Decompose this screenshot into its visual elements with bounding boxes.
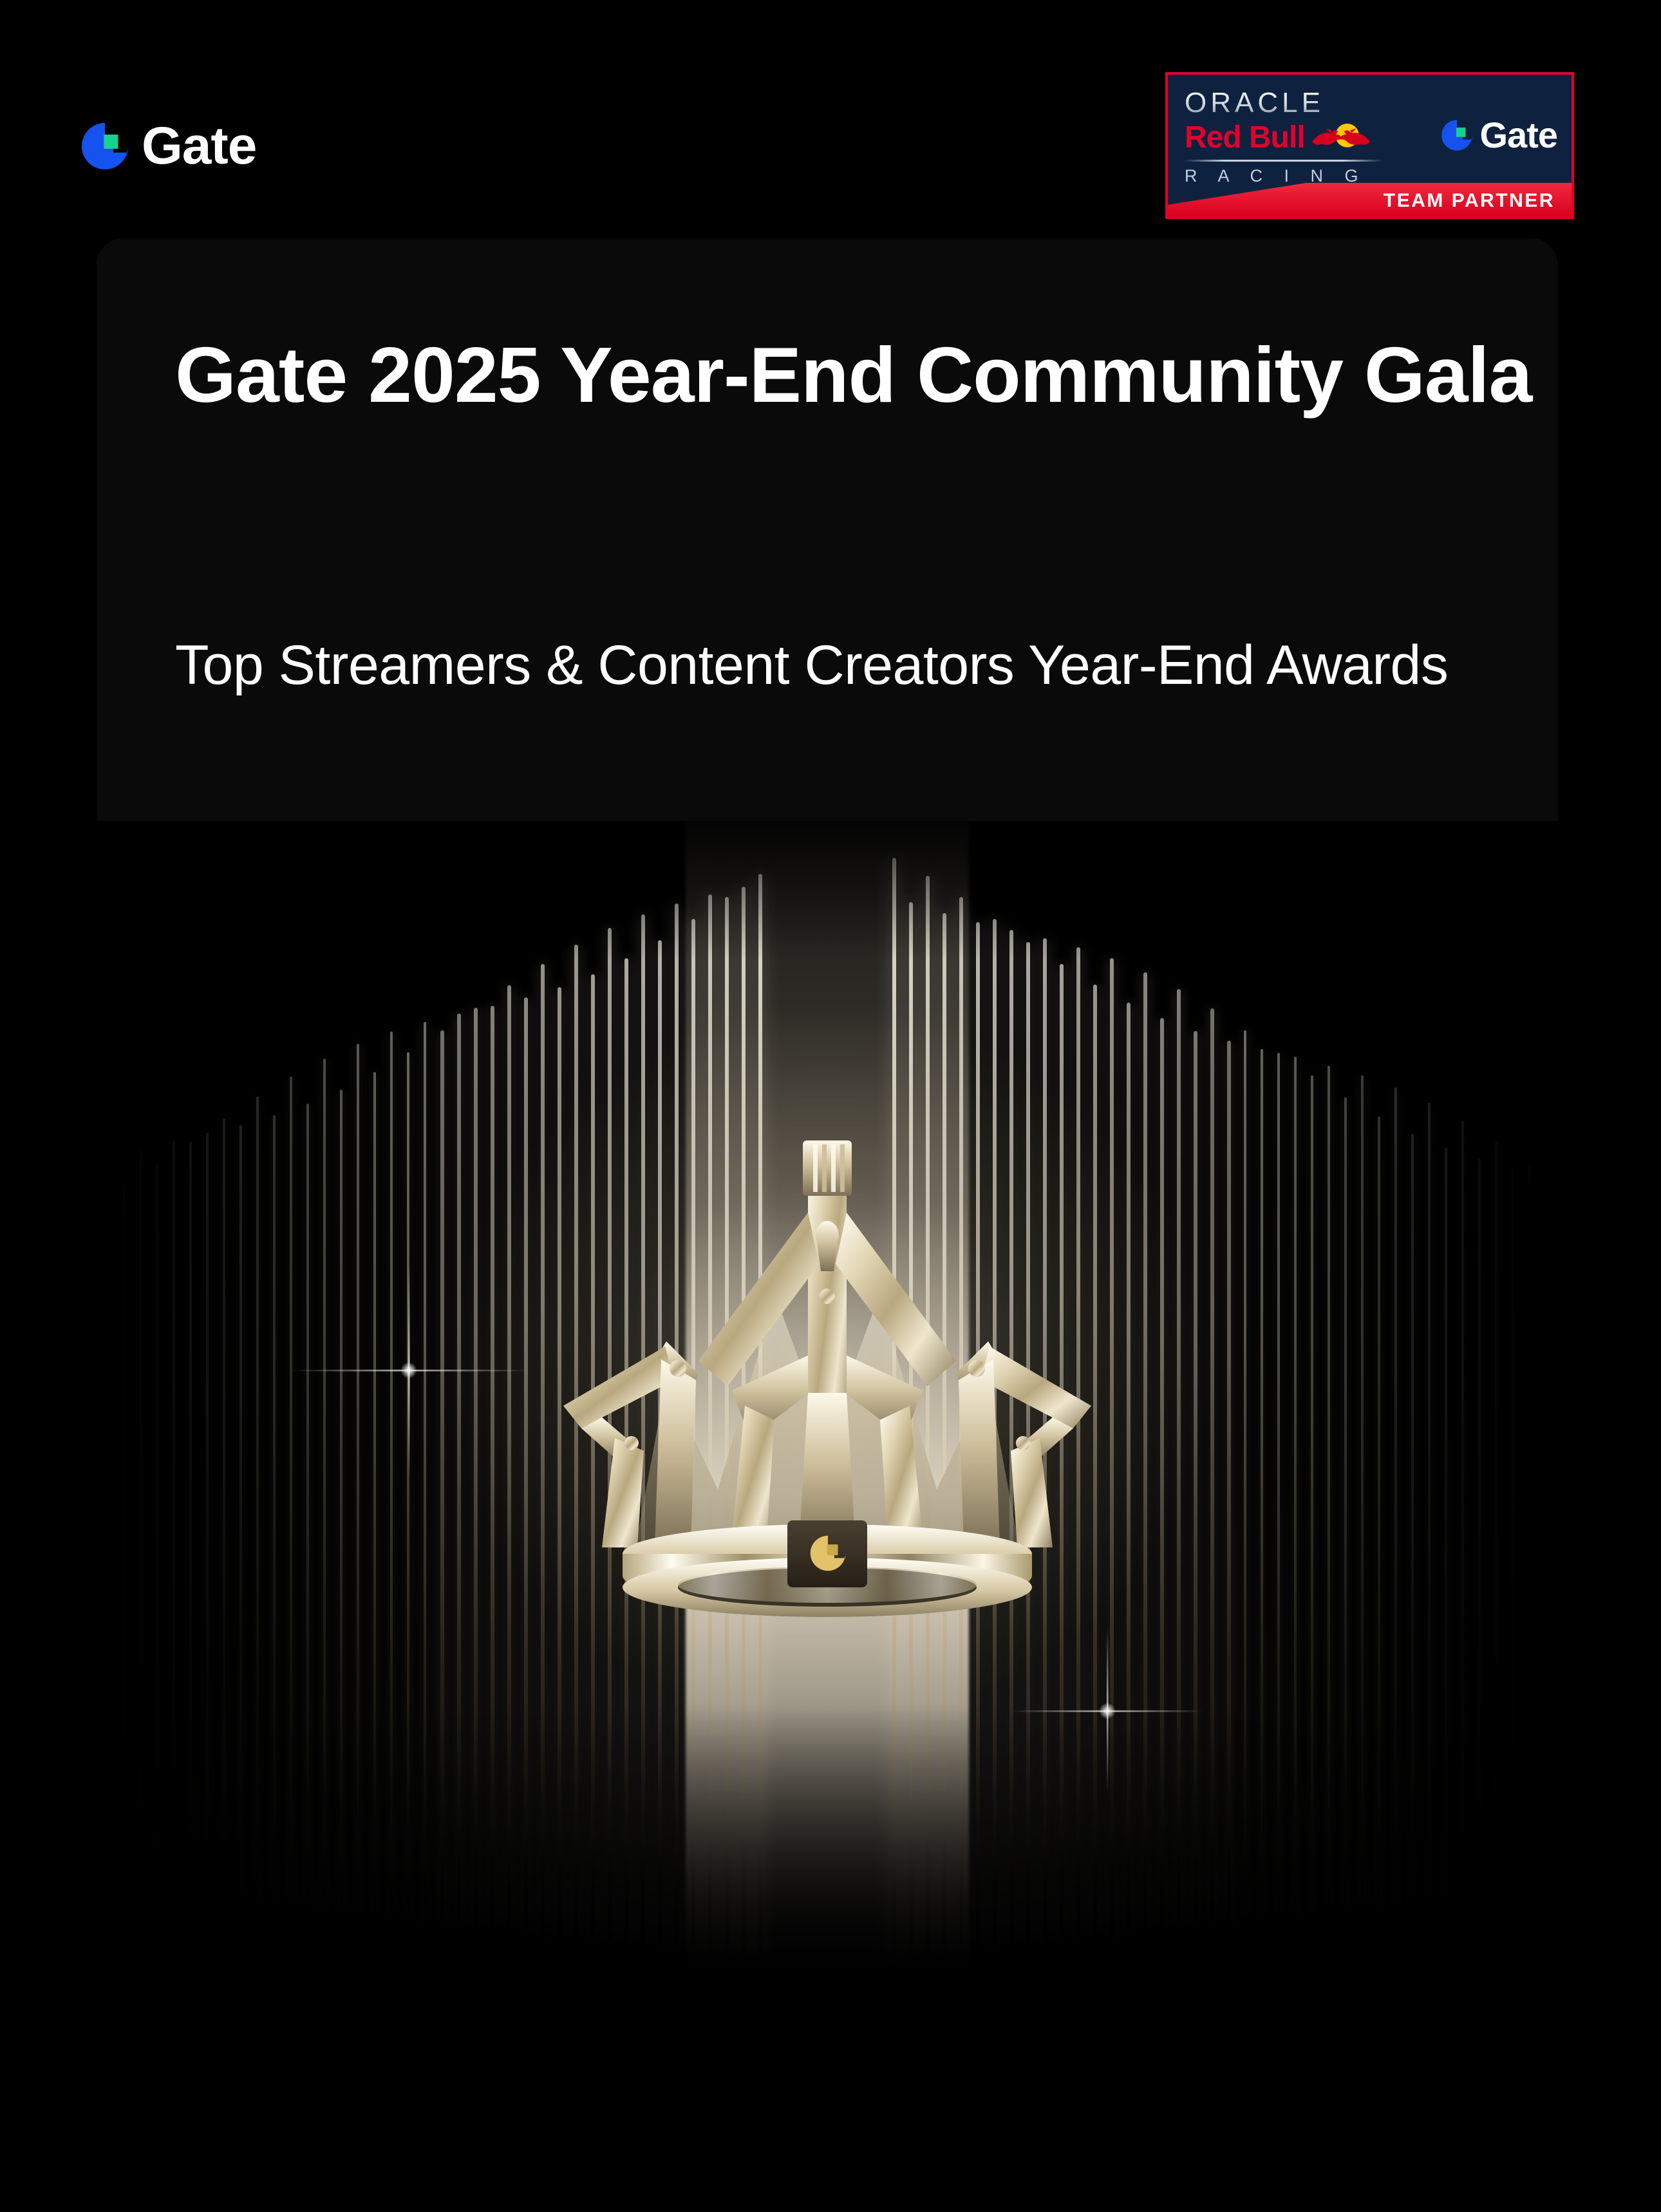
red-bull-charging-bulls-icon xyxy=(1310,121,1372,155)
gate-logo-wordmark: Gate xyxy=(142,120,256,173)
page-root: Gate ORACLE Red Bull xyxy=(0,0,1661,2212)
gate-logo-mark-icon xyxy=(79,120,131,173)
badge-gate-wordmark: Gate xyxy=(1480,117,1558,153)
oracle-wordmark: ORACLE xyxy=(1185,89,1387,117)
hero-vignette xyxy=(97,821,1558,1983)
event-content-card: Gate 2025 Year-End Community Gala Top St… xyxy=(97,238,1558,1983)
racing-wordmark: R A C I N G xyxy=(1185,167,1387,185)
badge-divider-rule xyxy=(1185,160,1383,162)
red-bull-racing-lockup: ORACLE Red Bull xyxy=(1185,89,1387,185)
page-title: Gate 2025 Year-End Community Gala xyxy=(175,321,1558,429)
red-bull-wordmark: Red Bull xyxy=(1185,122,1305,153)
page-subtitle: Top Streamers & Content Creators Year-En… xyxy=(175,626,1546,704)
hero-image-crown-trophy xyxy=(97,821,1558,1983)
gate-logo-mark-icon-badge xyxy=(1440,118,1474,153)
badge-gate-lockup: Gate xyxy=(1440,117,1558,153)
red-bull-racing-partner-badge[interactable]: ORACLE Red Bull xyxy=(1165,72,1574,219)
page-header: Gate ORACLE Red Bull xyxy=(0,0,1661,238)
gate-brand-logo[interactable]: Gate xyxy=(79,120,256,173)
team-partner-label: TEAM PARTNER xyxy=(1384,191,1555,211)
